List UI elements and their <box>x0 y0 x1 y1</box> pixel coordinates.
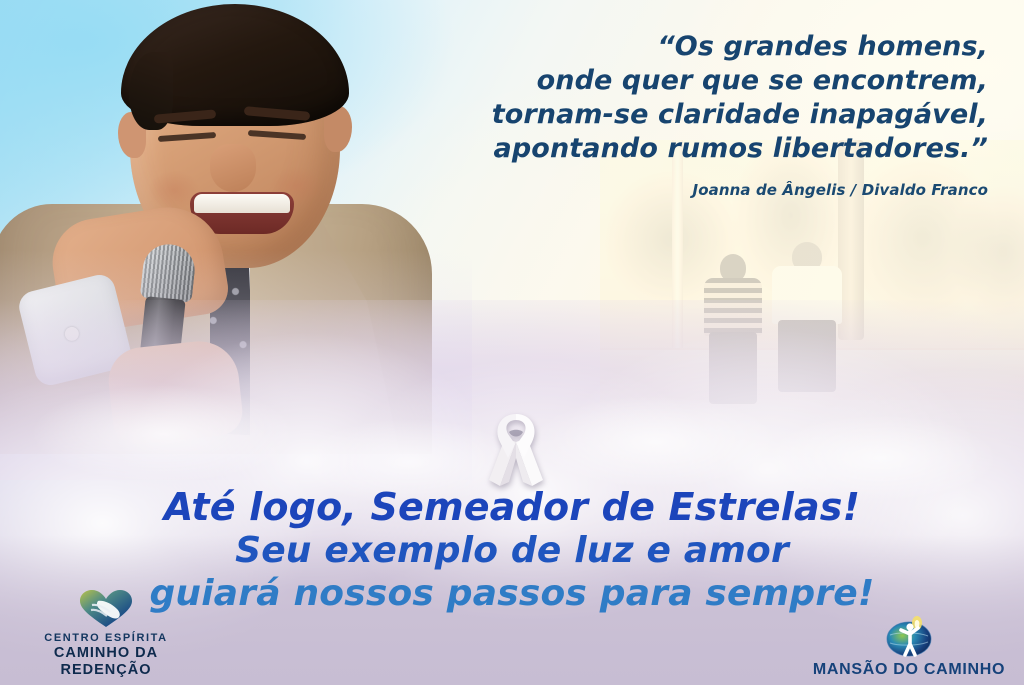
quote-line-3: tornam-se claridade inapagável, <box>368 98 988 132</box>
white-ribbon-icon <box>487 408 545 490</box>
headline-line-2: Seu exemplo de luz e amor <box>0 529 1024 572</box>
logo-right-line-1: MANSÃO DO CAMINHO <box>804 660 1014 679</box>
logo-left-line-1: CENTRO ESPÍRITA <box>8 632 204 645</box>
logo-mansao-do-caminho: MANSÃO DO CAMINHO <box>804 613 1014 679</box>
hair <box>121 4 349 126</box>
globe-figure-icon <box>884 613 934 657</box>
tribute-poster: “Os grandes homens, onde quer que se enc… <box>0 0 1024 685</box>
quote-line-4: apontando rumos libertadores.” <box>368 132 988 166</box>
nose <box>210 144 256 192</box>
heart-hands-icon <box>78 589 134 629</box>
headline-line-1: Até logo, Semeador de Estrelas! <box>0 485 1024 529</box>
quote-block: “Os grandes homens, onde quer que se enc… <box>368 30 988 200</box>
logo-left-line-2: CAMINHO DA REDENÇÃO <box>8 645 204 679</box>
quote-line-2: onde quer que se encontrem, <box>368 64 988 98</box>
teeth <box>194 194 290 213</box>
quote-attribution: Joanna de Ângelis / Divaldo Franco <box>368 180 988 200</box>
quote-line-1: “Os grandes homens, <box>368 30 988 64</box>
logo-centro-espirita-caminho-da-redencao: CENTRO ESPÍRITA CAMINHO DA REDENÇÃO <box>8 589 204 679</box>
